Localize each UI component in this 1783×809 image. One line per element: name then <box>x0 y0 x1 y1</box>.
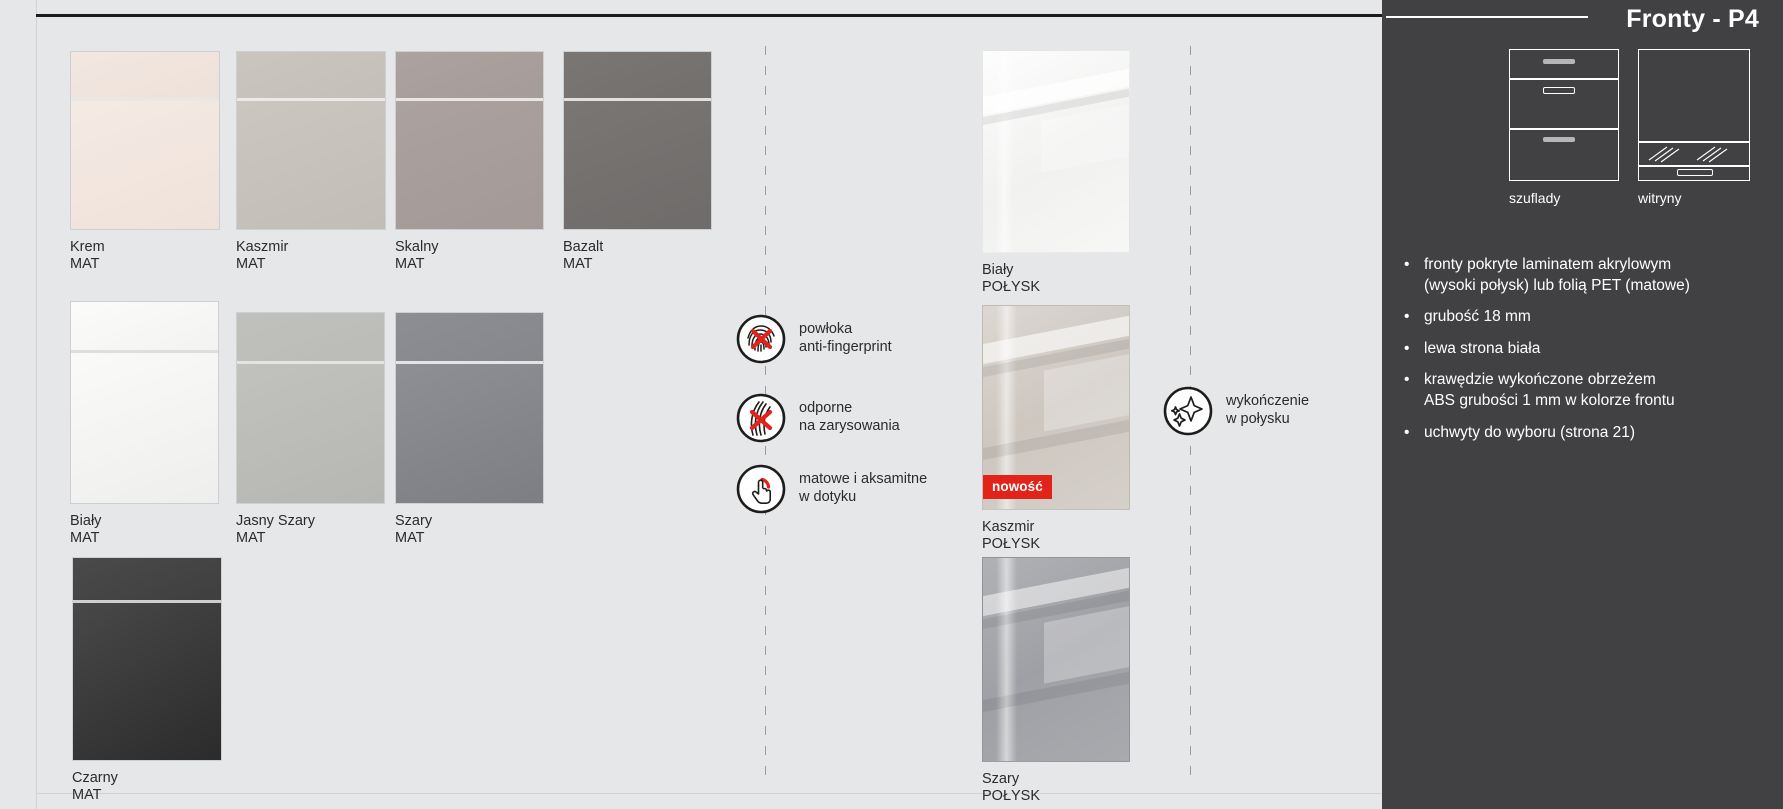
swatch-bialy-polysk[interactable]: Biały POŁYSK <box>982 50 1130 253</box>
door-graphic <box>563 51 712 230</box>
bottom-divider-rule <box>36 793 1382 794</box>
bullet-marker: • <box>1404 370 1412 411</box>
list-item-text: krawędzie wykończone obrzeżem ABS gruboś… <box>1424 370 1675 411</box>
swatch-label: Biały POŁYSK <box>982 262 1040 296</box>
door-bottom-panel <box>237 101 385 229</box>
list-item-text: uchwyty do wyboru (strona 21) <box>1424 423 1635 444</box>
list-item: • krawędzie wykończone obrzeżem ABS grub… <box>1404 370 1764 411</box>
swatch-bazalt[interactable]: Bazalt MAT <box>563 51 712 230</box>
swatch-label: Biały MAT <box>70 513 101 547</box>
swatch-label: Kaszmir MAT <box>236 239 288 273</box>
door-graphic <box>72 557 222 761</box>
catalog-page: Krem MAT Kaszmir MAT Skalny MAT Bazalt M… <box>0 0 1783 809</box>
swatch-label: Szary POŁYSK <box>982 771 1040 805</box>
list-item: • grubość 18 mm <box>1404 307 1764 328</box>
swatch-czarny[interactable]: Czarny MAT <box>72 557 222 761</box>
swatch-label: Szary MAT <box>395 513 432 547</box>
door-bottom-panel <box>396 364 543 504</box>
swatch-skalny[interactable]: Skalny MAT <box>395 51 544 230</box>
door-graphic <box>236 51 386 230</box>
drawer-divider <box>1510 128 1618 130</box>
door-graphic <box>236 312 385 504</box>
list-item: • fronty pokryte laminatem akrylowym (wy… <box>1404 255 1764 296</box>
door-top-panel <box>237 52 385 98</box>
specs-list: • fronty pokryte laminatem akrylowym (wy… <box>1404 255 1764 454</box>
door-top-panel <box>237 313 384 361</box>
door-bottom-panel <box>71 353 218 503</box>
nowosc-badge: nowość <box>983 475 1052 499</box>
door-graphic: nowość <box>982 305 1130 510</box>
touch-hand-icon <box>736 464 786 514</box>
door-top-panel <box>71 302 218 350</box>
bullet-marker: • <box>1404 255 1412 296</box>
feature-matte-velvet: matowe i aksamitne w dotyku <box>736 464 927 514</box>
feature-gloss-finish: wykończenie w połysku <box>1163 386 1309 436</box>
door-graphic <box>70 301 219 504</box>
swatch-label: Kaszmir POŁYSK <box>982 519 1040 553</box>
feature-label: powłoka anti-fingerprint <box>799 321 892 356</box>
bullet-marker: • <box>1404 307 1412 328</box>
feature-label: matowe i aksamitne w dotyku <box>799 471 927 506</box>
door-graphic <box>982 50 1130 253</box>
glass-shine-icon <box>1639 143 1749 165</box>
cabinet-drawers-label: szuflady <box>1509 190 1560 206</box>
scratch-crossed-icon <box>736 393 786 443</box>
door-graphic <box>395 312 544 504</box>
list-item: • lewa strona biała <box>1404 339 1764 360</box>
panel-title-rule <box>1386 16 1588 18</box>
door-top-panel <box>396 52 543 98</box>
drawer-handle <box>1543 137 1575 142</box>
door-graphic <box>395 51 544 230</box>
door-top-panel <box>396 313 543 361</box>
swatch-szary-polysk[interactable]: Szary POŁYSK <box>982 557 1130 762</box>
feature-anti-fingerprint: powłoka anti-fingerprint <box>736 314 892 364</box>
list-item-text: fronty pokryte laminatem akrylowym (wyso… <box>1424 255 1690 296</box>
door-top-panel <box>71 52 219 98</box>
cabinet-glass-label: witryny <box>1638 190 1682 206</box>
list-item: • uchwyty do wyboru (strona 21) <box>1404 423 1764 444</box>
swatch-label: Jasny Szary MAT <box>236 513 315 547</box>
swatch-label: Krem MAT <box>70 239 105 273</box>
drawer-handle <box>1543 59 1575 64</box>
swatch-jasny-szary[interactable]: Jasny Szary MAT <box>236 312 385 504</box>
door-bottom-panel <box>237 364 384 504</box>
swatch-kaszmir[interactable]: Kaszmir MAT <box>236 51 386 230</box>
swatch-krem[interactable]: Krem MAT <box>70 51 220 230</box>
swatch-label: Bazalt MAT <box>563 239 603 273</box>
cabinet-drawers-graphic <box>1509 49 1619 181</box>
gloss-reflection <box>983 558 1129 761</box>
bullet-marker: • <box>1404 339 1412 360</box>
door-graphic <box>70 51 220 230</box>
glass-divider <box>1639 165 1749 167</box>
door-bottom-panel <box>396 101 543 229</box>
cabinet-handle <box>1677 169 1713 176</box>
swatch-bialy[interactable]: Biały MAT <box>70 301 219 504</box>
cabinet-glass-graphic <box>1638 49 1750 181</box>
page-title: Fronty - P4 <box>1626 5 1759 34</box>
door-top-panel <box>73 558 221 600</box>
swatch-label: Czarny MAT <box>72 770 118 804</box>
feature-label: wykończenie w połysku <box>1226 393 1309 428</box>
fingerprint-crossed-icon <box>736 314 786 364</box>
top-divider-rule <box>36 14 1382 17</box>
sparkle-icon <box>1163 386 1213 436</box>
door-bottom-panel <box>71 101 219 229</box>
drawer-divider <box>1510 78 1618 80</box>
swatch-label: Skalny MAT <box>395 239 439 273</box>
list-item-text: lewa strona biała <box>1424 339 1540 360</box>
door-graphic <box>982 557 1130 762</box>
bullet-marker: • <box>1404 423 1412 444</box>
door-bottom-panel <box>73 603 221 760</box>
door-top-panel <box>564 52 711 98</box>
feature-scratch-resistant: odporne na zarysowania <box>736 393 900 443</box>
feature-label: odporne na zarysowania <box>799 400 900 435</box>
swatch-szary[interactable]: Szary MAT <box>395 312 544 504</box>
left-margin-rule <box>36 0 37 809</box>
swatch-kaszmir-polysk[interactable]: nowość Kaszmir POŁYSK <box>982 305 1130 510</box>
door-bottom-panel <box>564 101 711 229</box>
gloss-reflection <box>983 51 1129 252</box>
drawer-handle <box>1543 87 1575 94</box>
list-item-text: grubość 18 mm <box>1424 307 1531 328</box>
